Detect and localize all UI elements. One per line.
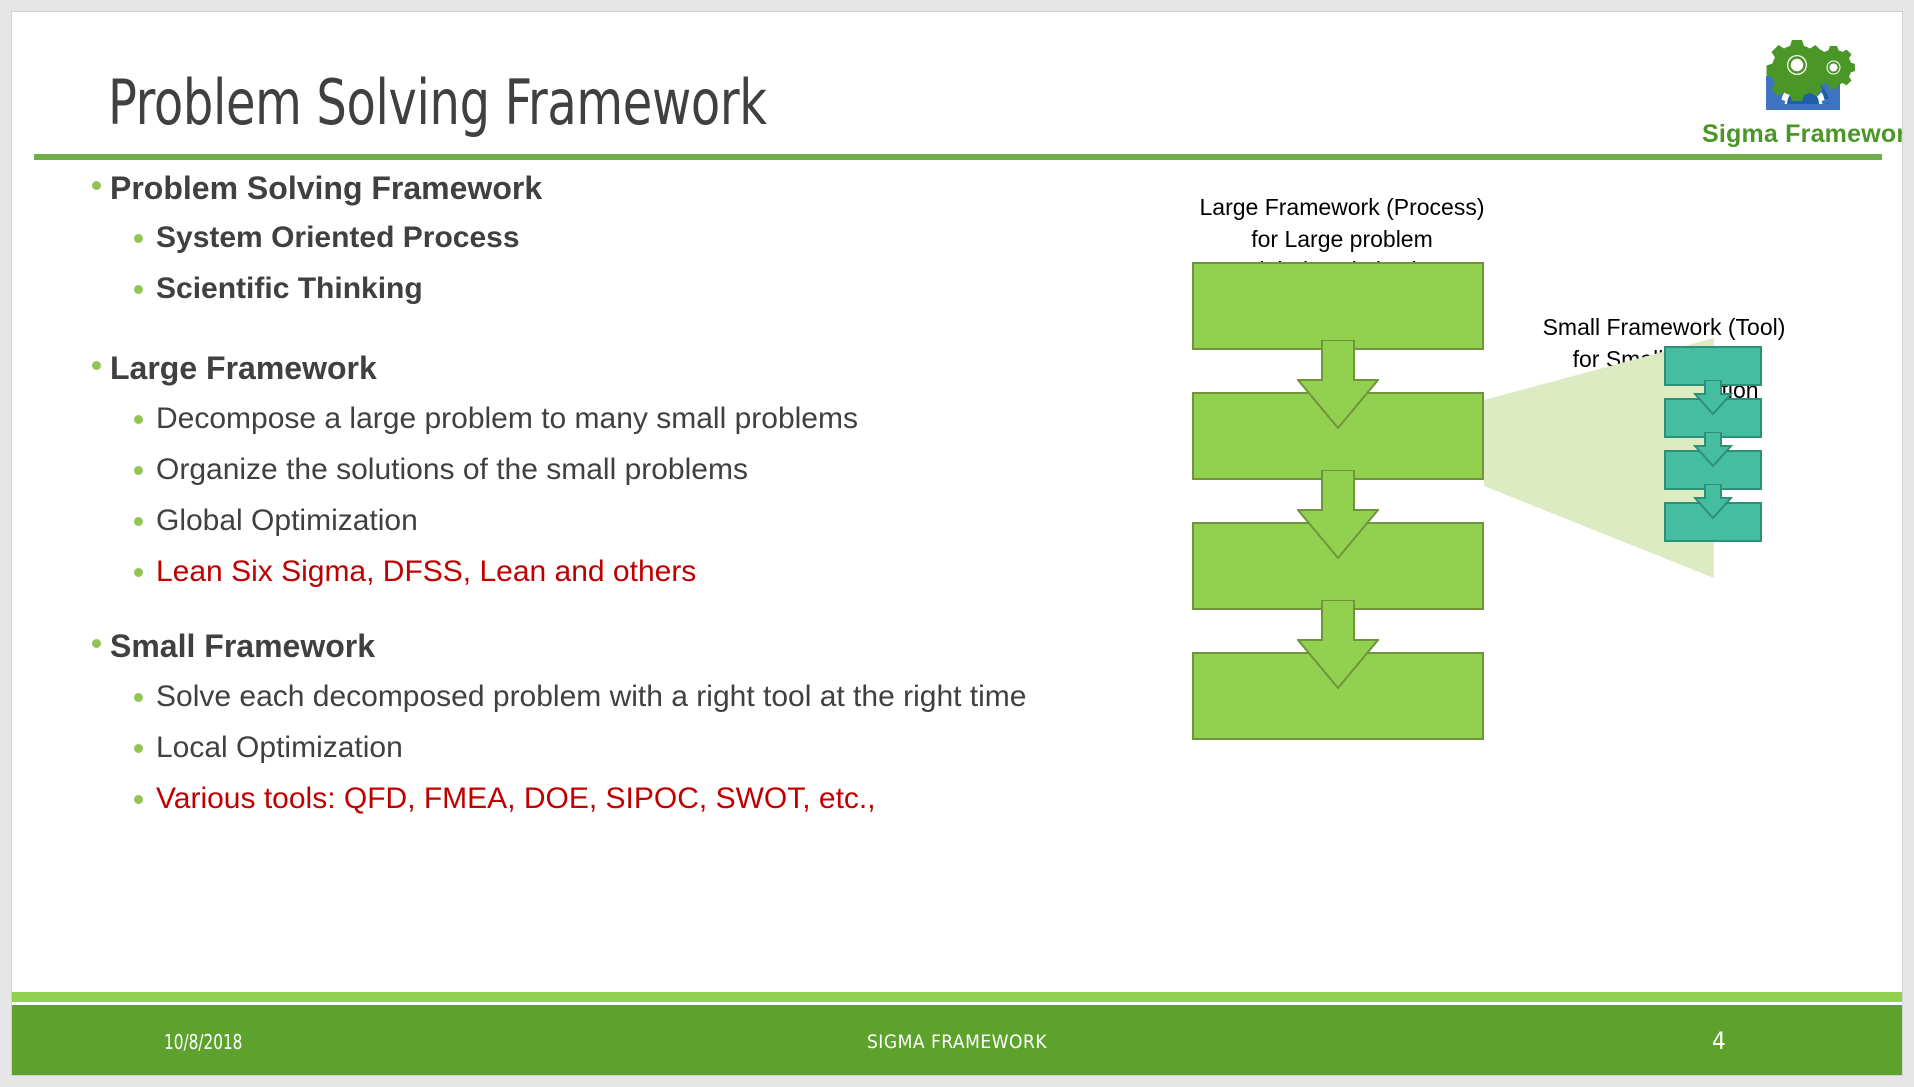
bullet-level2: Solve each decomposed problem with a rig… [90,682,1026,712]
logo-wordmark: Sigma Framework [1702,120,1897,149]
tool-arrow-3 [1693,484,1733,520]
bullet-dot-icon [134,285,143,294]
bullet-level1: Small Framework [90,630,1026,662]
content-section: Problem Solving Framework System Oriente… [90,172,542,304]
bullet-dot-icon [92,361,101,370]
logo-mark-icon [1702,32,1897,122]
slide-canvas: Problem Solving Framework [11,11,1903,1076]
slide-footer: 10/8/2018 SIGMA FRAMEWORK 4 [12,1005,1902,1075]
bullet-level2: Global Optimization [90,506,858,536]
tool-arrow-2 [1693,432,1733,468]
bullet-level1-label: Problem Solving Framework [110,170,542,206]
bullet-dot-icon [134,517,143,526]
bullet-dot-icon [92,181,101,190]
bullet-level1: Problem Solving Framework [90,172,542,204]
bullet-dot-icon [134,234,143,243]
bullet-level2-label: Global Optimization [156,504,418,537]
bullet-level2-label: Various tools: QFD, FMEA, DOE, SIPOC, SW… [156,782,876,815]
bullet-level2: Scientific Thinking [90,274,542,304]
content-section: Large Framework Decompose a large proble… [90,352,858,587]
framework-diagram: Large Framework (Process) for Large prob… [1192,192,1892,832]
sigma-framework-logo: Sigma Framework [1702,32,1897,144]
title-underline-rule [34,154,1882,160]
process-box-1 [1192,262,1484,350]
bullet-level2-label: Organize the solutions of the small prob… [156,453,748,486]
bullet-level2-label: Solve each decomposed problem with a rig… [156,680,1026,713]
content-section: Small Framework Solve each decomposed pr… [90,630,1026,814]
bullet-level2-label: Local Optimization [156,731,403,764]
caption-line: Large Framework (Process) [1192,192,1492,224]
caption-line: for Large problem [1192,224,1492,256]
process-arrow-1 [1297,340,1379,430]
process-arrow-2 [1297,470,1379,560]
bullet-level2-label: Decompose a large problem to many small … [156,402,858,435]
bullet-level2: Organize the solutions of the small prob… [90,455,858,485]
bullet-level1-label: Large Framework [110,350,377,386]
process-arrow-3 [1297,600,1379,690]
bullet-level2: System Oriented Process [90,223,542,253]
bullet-level1: Large Framework [90,352,858,384]
bullet-level2-label: System Oriented Process [156,221,520,254]
bullet-dot-icon [134,466,143,475]
bullet-dot-icon [134,568,143,577]
footer-page-number: 4 [1712,1027,1726,1055]
bullet-dot-icon [92,639,101,648]
footer-title: SIGMA FRAMEWORK [12,1031,1902,1053]
bullet-dot-icon [134,744,143,753]
bullet-level2: Lean Six Sigma, DFSS, Lean and others [90,557,858,587]
bullet-level2-label: Lean Six Sigma, DFSS, Lean and others [156,555,696,588]
footer-accent-bar [12,992,1902,1002]
bullet-dot-icon [134,415,143,424]
bullet-level1-label: Small Framework [110,628,375,664]
bullet-level2: Local Optimization [90,733,1026,763]
tool-arrow-1 [1693,380,1733,416]
bullet-dot-icon [134,693,143,702]
bullet-level2: Various tools: QFD, FMEA, DOE, SIPOC, SW… [90,784,1026,814]
page-title: Problem Solving Framework [108,66,767,139]
bullet-level2-label: Scientific Thinking [156,272,423,305]
bullet-dot-icon [134,795,143,804]
bullet-level2: Decompose a large problem to many small … [90,404,858,434]
